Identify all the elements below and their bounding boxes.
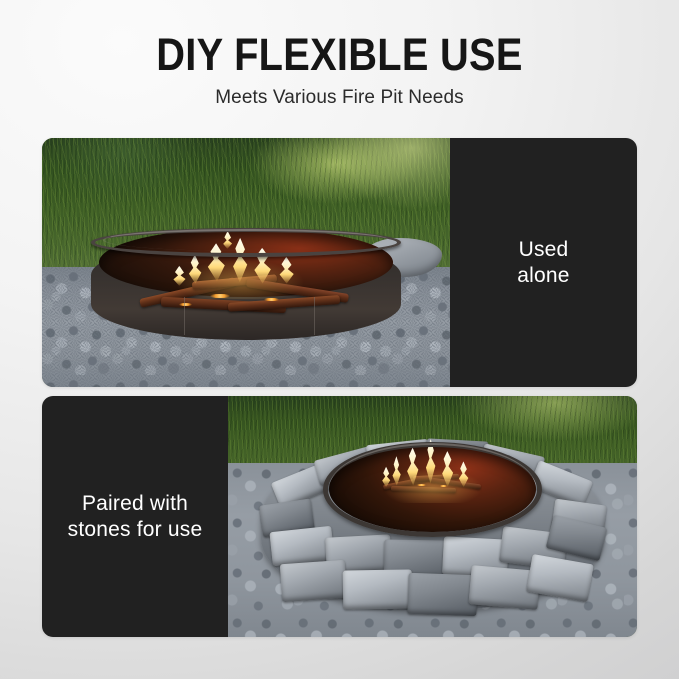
steel-fire-ring — [329, 446, 535, 532]
steel-fire-ring — [91, 228, 401, 340]
card-label: Paired with stones for use — [68, 491, 203, 543]
ring-seam — [314, 297, 315, 335]
stone-block — [408, 572, 478, 616]
stone-block — [343, 569, 412, 610]
page-subtitle: Meets Various Fire Pit Needs — [0, 87, 679, 109]
product-feature-graphic: DIY FLEXIBLE USE Meets Various Fire Pit … — [0, 0, 679, 679]
sunlight-highlight — [262, 138, 450, 238]
photo-fire-ring-with-stones — [228, 396, 637, 637]
label-panel-paired-with-stones: Paired with stones for use — [42, 396, 228, 637]
ring-rim-highlight — [103, 229, 388, 251]
stone-fire-pit — [261, 435, 605, 623]
stone-block — [280, 560, 348, 602]
card-label: Used alone — [517, 237, 569, 289]
feature-card-paired-with-stones: Paired with stones for use — [42, 396, 637, 637]
photo-fire-ring-alone — [42, 138, 450, 387]
page-title: DIY FLEXIBLE USE — [39, 32, 640, 78]
ring-seam — [184, 297, 185, 335]
ring-rim-highlight — [329, 443, 535, 533]
label-panel-used-alone: Used alone — [450, 138, 637, 387]
heading-block: DIY FLEXIBLE USE Meets Various Fire Pit … — [0, 0, 679, 109]
feature-card-used-alone: Used alone — [42, 138, 637, 387]
